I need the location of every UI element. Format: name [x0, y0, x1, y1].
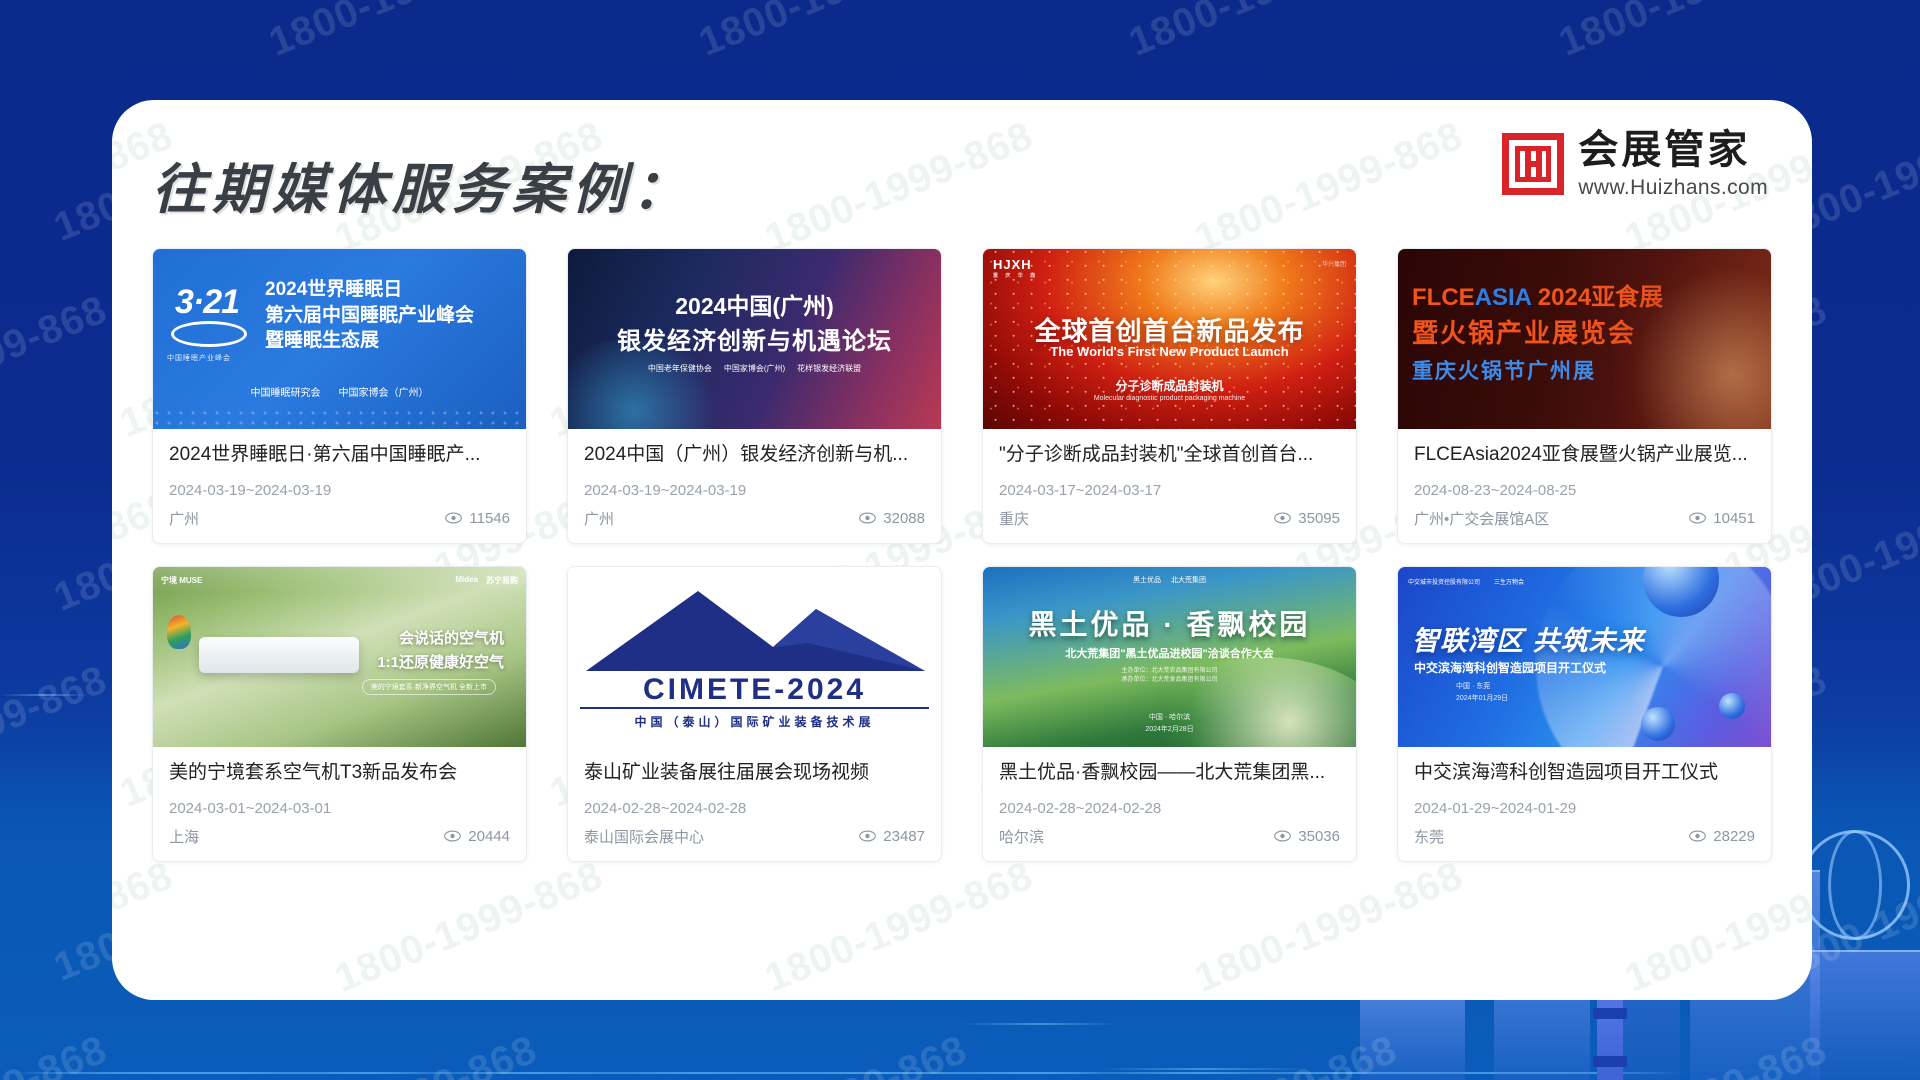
- thumb-org-2: 北大荒集团: [1171, 575, 1206, 585]
- building-block: [1810, 950, 1920, 1080]
- thumb-footer: 中国 · 哈尔滨 2024年2月28日: [983, 712, 1356, 737]
- card-footer: 哈尔滨 35036: [999, 826, 1340, 847]
- thumb-line-6: 2024年2月28日: [983, 724, 1356, 737]
- thumb-line-4: Molecular diagnostic product packaging m…: [983, 395, 1356, 402]
- thumb-corner-label: 华兴集团: [1322, 259, 1346, 268]
- card-title: 中交滨海湾科创智造园项目开工仪式: [1414, 761, 1755, 785]
- thumb-line-1: 2024中国(广州): [568, 287, 941, 321]
- card-thumbnail[interactable]: 黑土优品 北大荒集团 黑土优品 · 香飘校园 北大荒集团"黑土优品进校园"洽谈合…: [983, 567, 1356, 747]
- case-card-grid: 3·21 中国睡眠产业峰会 2024世界睡眠日 第六届中国睡眠产业峰会 暨睡眠生…: [152, 248, 1772, 862]
- thumb-line-1: 2024世界睡眠日: [265, 277, 474, 303]
- light-streak: [1096, 1068, 1310, 1070]
- card-views-count: 10451: [1713, 510, 1755, 527]
- thumb-line-1-b: ASIA: [1475, 284, 1531, 311]
- light-streak: [959, 1023, 1120, 1025]
- thumb-logo-sub: 中国睡眠产业峰会: [167, 353, 231, 363]
- thumb-line-2: 北大荒集团"黑土优品进校园"洽谈合作大会: [983, 645, 1356, 661]
- card-thumbnail[interactable]: FLCEASIA 2024亚食展 暨火锅产业展览会 重庆火锅节广州展: [1398, 249, 1771, 429]
- thumb-organizers: 中交城市投资控股有限公司 三生万物会: [1408, 577, 1524, 586]
- case-card[interactable]: 中交城市投资控股有限公司 三生万物会 智联湾区 共筑未来 中交滨海湾科创智造园项…: [1397, 566, 1772, 862]
- card-date: 2024-01-29~2024-01-29: [1414, 800, 1755, 817]
- air-conditioner-illustration: [199, 637, 359, 673]
- light-streak: [0, 694, 90, 696]
- eye-icon: [1274, 830, 1291, 842]
- card-views-count: 28229: [1713, 828, 1755, 845]
- card-footer: 广州 32088: [584, 508, 925, 529]
- eye-icon: [1689, 512, 1706, 524]
- card-views-count: 20444: [468, 828, 510, 845]
- card-title: 2024中国（广州）银发经济创新与机...: [584, 443, 925, 467]
- thumb-org-2: 中国家博会(广州): [724, 363, 785, 374]
- card-views: 35036: [1274, 828, 1340, 845]
- light-streak: [21, 1072, 360, 1074]
- card-views-count: 35095: [1298, 510, 1340, 527]
- eye-icon: [445, 512, 462, 524]
- card-body: 2024中国（广州）银发经济创新与机... 2024-03-19~2024-03…: [568, 429, 941, 543]
- card-views: 28229: [1689, 828, 1755, 845]
- thumb-org-2: 中国家博会（广州）: [339, 384, 429, 399]
- card-date: 2024-03-19~2024-03-19: [584, 482, 925, 499]
- case-card[interactable]: CIMETE-2024 中国（泰山）国际矿业装备技术展 泰山矿业装备展往届展会现…: [567, 566, 942, 862]
- thumb-line-1-c: 2024亚食展: [1538, 284, 1663, 311]
- card-city: 哈尔滨: [999, 826, 1044, 847]
- thumb-line-3: 美的宁境套系·新净界空气机 全新上市: [362, 679, 496, 695]
- card-thumbnail[interactable]: HJXH 重 庆 华 鼎 华兴集团 全球首创首台新品发布 The World's…: [983, 249, 1356, 429]
- thumb-brand-name: HJXH: [993, 257, 1032, 272]
- card-body: 泰山矿业装备展往届展会现场视频 2024-02-28~2024-02-28 泰山…: [568, 747, 941, 861]
- thumb-line-1: FLCEASIA 2024亚食展: [1412, 277, 1663, 312]
- card-title: 黑土优品·香飘校园——北大荒集团黑...: [999, 761, 1340, 785]
- card-footer: 重庆 35095: [999, 508, 1340, 529]
- card-city: 广州: [169, 508, 199, 529]
- thumb-organizers: 黑土优品 北大荒集团: [983, 575, 1356, 585]
- thumb-line-3b: 2024年01月29日: [1456, 693, 1508, 705]
- case-card[interactable]: 宁境 MUSE Midea 苏宁易购 会说话的空气机 1:1还原健康好空气 美的…: [152, 566, 527, 862]
- thumb-line-3: 暨睡眠生态展: [265, 328, 474, 354]
- card-views: 23487: [859, 828, 925, 845]
- thumb-org-1: 中交城市投资控股有限公司: [1408, 577, 1480, 586]
- content-panel: 1800-1999-8681800-1999-8681800-1999-8681…: [112, 100, 1812, 1000]
- thumb-orb: [1641, 707, 1675, 741]
- card-views-count: 32088: [883, 510, 925, 527]
- card-views-count: 35036: [1298, 828, 1340, 845]
- thumb-line-2: 银发经济创新与机遇论坛: [568, 321, 941, 356]
- case-card[interactable]: 2024中国(广州) 银发经济创新与机遇论坛 中国老年保健协会 中国家博会(广州…: [567, 248, 942, 544]
- card-thumbnail[interactable]: 宁境 MUSE Midea 苏宁易购 会说话的空气机 1:1还原健康好空气 美的…: [153, 567, 526, 747]
- card-title: 2024世界睡眠日·第六届中国睡眠产...: [169, 443, 510, 467]
- thumb-line-1: 智联湾区 共筑未来: [1412, 619, 1645, 658]
- thumb-line-1: 黑土优品 · 香飘校园: [983, 603, 1356, 643]
- divider: [580, 707, 929, 709]
- thumb-line-2: 中交滨海湾科创智造园项目开工仪式: [1414, 659, 1606, 676]
- card-date: 2024-03-19~2024-03-19: [169, 482, 510, 499]
- card-footer: 上海 20444: [169, 826, 510, 847]
- card-thumbnail[interactable]: 中交城市投资控股有限公司 三生万物会 智联湾区 共筑未来 中交滨海湾科创智造园项…: [1398, 567, 1771, 747]
- card-title: FLCEAsia2024亚食展暨火锅产业展览...: [1414, 443, 1755, 467]
- thumb-line-3: 中国 · 东莞 2024年01月29日: [1456, 681, 1508, 705]
- brand-name: 会展管家: [1578, 130, 1768, 170]
- thumb-brand-left: 宁境 MUSE: [161, 575, 202, 586]
- thumb-logo: 3·21: [175, 283, 239, 322]
- thumb-line-5: 中国 · 哈尔滨: [983, 712, 1356, 725]
- card-body: 中交滨海湾科创智造园项目开工仪式 2024-01-29~2024-01-29 东…: [1398, 747, 1771, 861]
- thumb-brand-right-1: Midea: [455, 575, 478, 586]
- thumb-organizers: 中国老年保健协会 中国家博会(广州) 花样银发经济联盟: [568, 363, 941, 374]
- card-body: 美的宁境套系空气机T3新品发布会 2024-03-01~2024-03-01 上…: [153, 747, 526, 861]
- brand-logo: 会展管家 www.Huizhans.com: [1502, 130, 1768, 198]
- eye-icon: [1274, 512, 1291, 524]
- card-date: 2024-02-28~2024-02-28: [584, 800, 925, 817]
- card-date: 2024-03-01~2024-03-01: [169, 800, 510, 817]
- card-thumbnail[interactable]: 2024中国(广州) 银发经济创新与机遇论坛 中国老年保健协会 中国家博会(广州…: [568, 249, 941, 429]
- thumb-logo-eye-shape: [171, 321, 247, 347]
- case-card[interactable]: FLCEASIA 2024亚食展 暨火锅产业展览会 重庆火锅节广州展 FLCEA…: [1397, 248, 1772, 544]
- page-title: 往期媒体服务案例：: [152, 145, 692, 224]
- eye-icon: [859, 830, 876, 842]
- thumb-line-3: 分子诊断成品封装机: [983, 377, 1356, 394]
- thumb-org-1: 黑土优品: [1133, 575, 1161, 585]
- card-body: "分子诊断成品封装机"全球首创首台... 2024-03-17~2024-03-…: [983, 429, 1356, 543]
- thumb-line-3a: 中国 · 东莞: [1456, 681, 1508, 693]
- card-city: 上海: [169, 826, 199, 847]
- card-date: 2024-08-23~2024-08-25: [1414, 482, 1755, 499]
- card-views-count: 11546: [469, 510, 510, 527]
- thumb-brand-sub: 重 庆 华 鼎: [993, 272, 1038, 279]
- light-streak: [973, 1072, 1100, 1074]
- card-title: 泰山矿业装备展往届展会现场视频: [584, 761, 925, 785]
- thumb-line-2: 暨火锅产业展览会: [1412, 313, 1636, 350]
- thumb-line-1-a: FLCE: [1412, 284, 1475, 311]
- thumb-line-2: 中国（泰山）国际矿业装备技术展: [568, 713, 941, 730]
- card-date: 2024-02-28~2024-02-28: [999, 800, 1340, 817]
- thumb-brand-right-2: 苏宁易购: [486, 575, 518, 586]
- mountain-logo-icon: [568, 585, 941, 671]
- card-views: 20444: [444, 828, 510, 845]
- thumb-line-3b: 承办单位：北大荒食品集团有限公司: [983, 676, 1356, 686]
- eye-icon: [859, 512, 876, 524]
- card-footer: 泰山国际会展中心 23487: [584, 826, 925, 847]
- thumb-line-2: 1:1还原健康好空气: [377, 651, 504, 672]
- card-footer: 广州•广交会展馆A区 10451: [1414, 508, 1755, 529]
- thumb-line-2: The World's First New Product Launch: [983, 344, 1356, 359]
- card-views: 35095: [1274, 510, 1340, 527]
- huizhans-logo-icon: [1502, 133, 1564, 195]
- thumb-org-1: 中国老年保健协会: [648, 363, 712, 374]
- card-views: 32088: [859, 510, 925, 527]
- thumb-line-1: CIMETE-2024: [568, 673, 941, 707]
- card-body: 黑土优品·香飘校园——北大荒集团黑... 2024-02-28~2024-02-…: [983, 747, 1356, 861]
- parrot-illustration: [167, 615, 191, 649]
- card-city: 泰山国际会展中心: [584, 826, 704, 847]
- eye-icon: [444, 830, 461, 842]
- thumb-orb: [1719, 693, 1745, 719]
- thumb-line-1: 全球首创首台新品发布: [983, 311, 1356, 348]
- card-footer: 东莞 28229: [1414, 826, 1755, 847]
- card-city: 重庆: [999, 508, 1029, 529]
- case-card[interactable]: 黑土优品 北大荒集团 黑土优品 · 香飘校园 北大荒集团"黑土优品进校园"洽谈合…: [982, 566, 1357, 862]
- thumb-brand: HJXH 重 庆 华 鼎: [993, 257, 1038, 279]
- thumb-org-3: 花样银发经济联盟: [797, 363, 861, 374]
- card-body: 2024世界睡眠日·第六届中国睡眠产... 2024-03-19~2024-03…: [153, 429, 526, 543]
- thumb-line-2: 第六届中国睡眠产业峰会: [265, 303, 474, 329]
- card-views-count: 23487: [883, 828, 925, 845]
- card-title: "分子诊断成品封装机"全球首创首台...: [999, 443, 1340, 467]
- card-footer: 广州 11546: [169, 508, 510, 529]
- thumb-line-3a: 主办单位：北大荒农品集团有限公司: [983, 667, 1356, 677]
- card-thumbnail[interactable]: CIMETE-2024 中国（泰山）国际矿业装备技术展: [568, 567, 941, 747]
- card-date: 2024-03-17~2024-03-17: [999, 482, 1340, 499]
- thumb-headline: 2024世界睡眠日 第六届中国睡眠产业峰会 暨睡眠生态展: [265, 277, 474, 354]
- card-title: 美的宁境套系空气机T3新品发布会: [169, 761, 510, 785]
- card-views: 11546: [445, 510, 510, 527]
- globe-icon: [1800, 830, 1910, 940]
- card-city: 广州: [584, 508, 614, 529]
- card-thumbnail[interactable]: 3·21 中国睡眠产业峰会 2024世界睡眠日 第六届中国睡眠产业峰会 暨睡眠生…: [153, 249, 526, 429]
- thumb-dot-pattern: [153, 409, 526, 429]
- brand-url: www.Huizhans.com: [1578, 177, 1768, 198]
- thumb-org-1: 中国睡眠研究会: [251, 384, 321, 399]
- thumb-line-1: 会说话的空气机: [399, 627, 504, 648]
- card-views: 10451: [1689, 510, 1755, 527]
- thumb-brand-right: Midea 苏宁易购: [455, 575, 518, 586]
- case-card[interactable]: HJXH 重 庆 华 鼎 华兴集团 全球首创首台新品发布 The World's…: [982, 248, 1357, 544]
- thumb-line-3: 重庆火锅节广州展: [1412, 355, 1596, 385]
- card-city: 东莞: [1414, 826, 1444, 847]
- thumb-organizers: 中国睡眠研究会 中国家博会（广州）: [153, 384, 526, 399]
- thumb-org-2: 三生万物会: [1494, 577, 1524, 586]
- thumb-line-3: 主办单位：北大荒农品集团有限公司 承办单位：北大荒食品集团有限公司: [983, 667, 1356, 686]
- card-city: 广州•广交会展馆A区: [1414, 508, 1549, 529]
- card-body: FLCEAsia2024亚食展暨火锅产业展览... 2024-08-23~202…: [1398, 429, 1771, 543]
- eye-icon: [1689, 830, 1706, 842]
- case-card[interactable]: 3·21 中国睡眠产业峰会 2024世界睡眠日 第六届中国睡眠产业峰会 暨睡眠生…: [152, 248, 527, 544]
